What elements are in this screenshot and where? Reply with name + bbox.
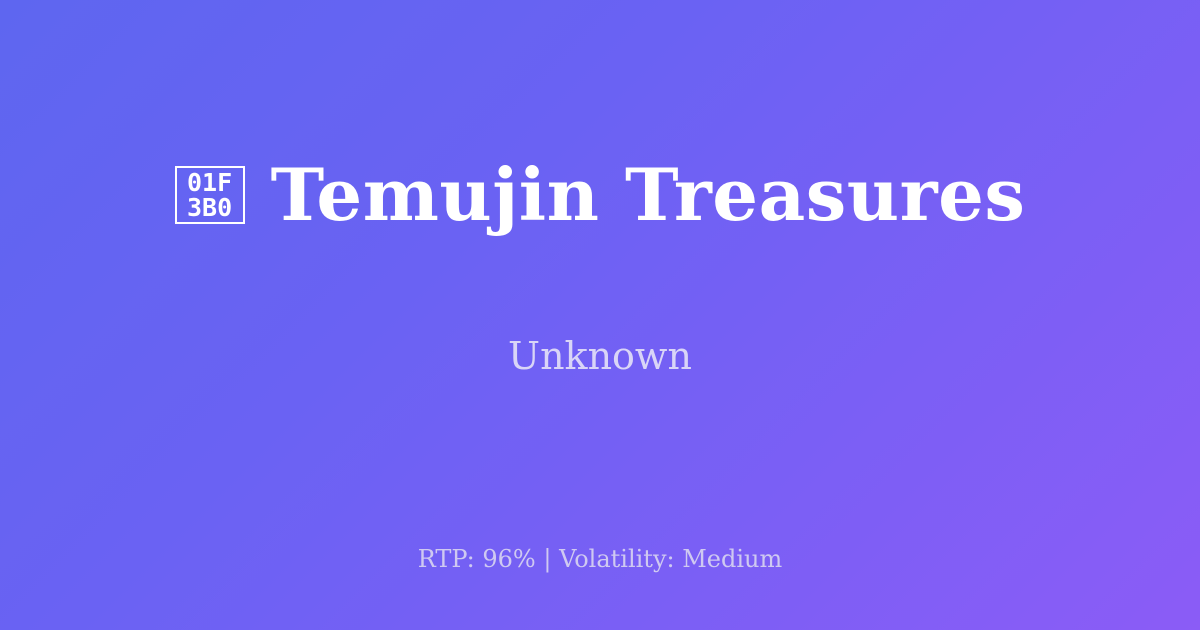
footer-meta: RTP: 96% | Volatility: Medium (0, 546, 1200, 572)
slot-machine-tofu-icon: 01F 3B0 (175, 166, 245, 224)
page-title: Temujin Treasures (271, 158, 1026, 231)
provider-subtitle: Unknown (508, 336, 692, 378)
tofu-codepoint-row-bottom: 3B0 (187, 195, 232, 220)
title-row: 01F 3B0 Temujin Treasures (175, 110, 1026, 280)
og-share-card: 01F 3B0 Temujin Treasures Unknown RTP: 9… (0, 0, 1200, 630)
rtp-volatility-text: RTP: 96% | Volatility: Medium (418, 546, 783, 572)
tofu-codepoint-row-top: 01F (187, 170, 232, 195)
hero-block: 01F 3B0 Temujin Treasures Unknown (0, 0, 1200, 500)
